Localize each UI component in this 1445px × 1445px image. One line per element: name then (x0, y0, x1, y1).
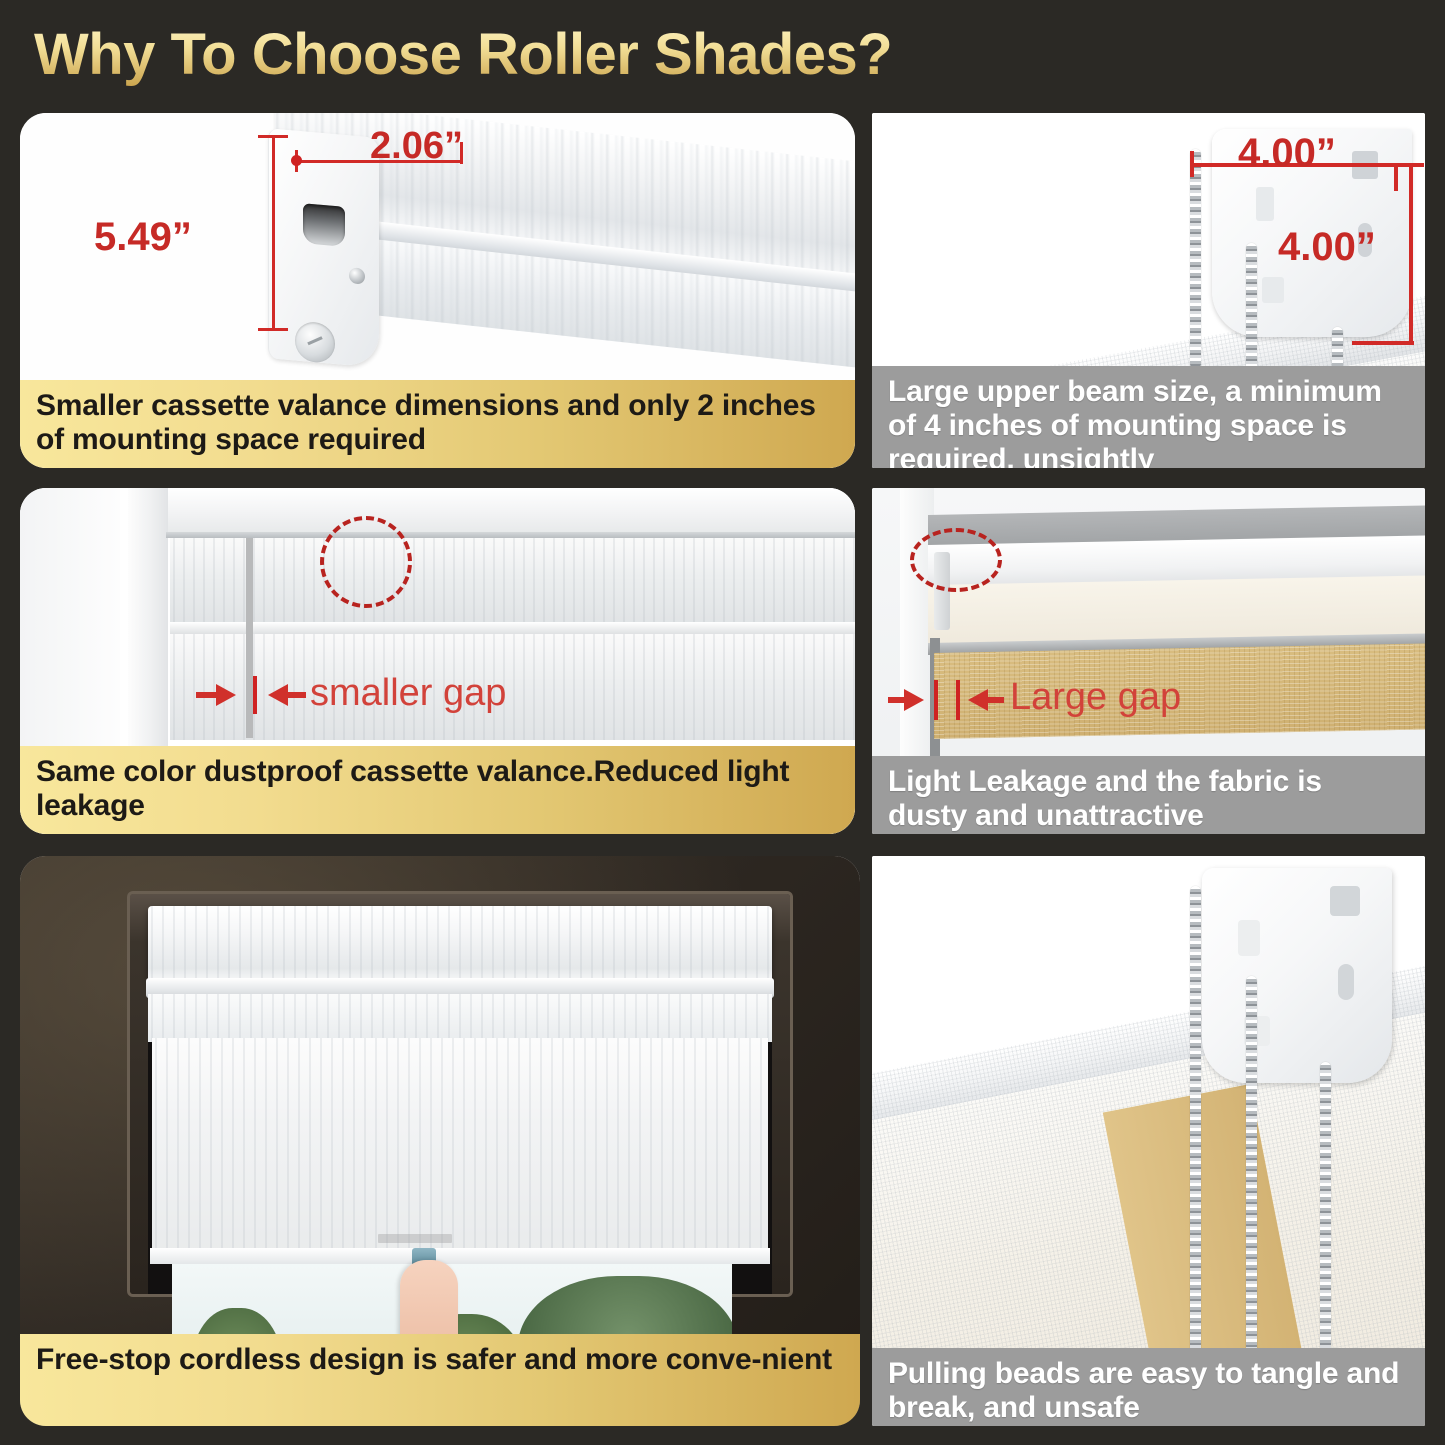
beam-width-tick-right (1394, 165, 1398, 191)
large-gap-label: Large gap (1010, 676, 1181, 719)
panel-4-caption: Light Leakage and the fabric is dusty an… (872, 756, 1425, 834)
beam-height-dim-line (1409, 165, 1413, 343)
beam-width-tick-left (1190, 151, 1194, 177)
panel-6-caption: Pulling beads are easy to tangle and bre… (872, 1348, 1425, 1426)
gap-edge-stripe (246, 538, 253, 738)
beam-width-label: 4.00” (1238, 131, 1336, 176)
gap-measure-line-2 (956, 680, 960, 720)
bead-chain-left (1190, 149, 1201, 369)
panel-1: 5.49” 2.06” Smaller cassette valance dim… (20, 113, 855, 468)
height-dim-tick-top (258, 135, 288, 138)
gap-arrow-left-tail (888, 697, 906, 703)
height-dim-tick-bottom (258, 328, 288, 331)
bead-chain-middle (1246, 976, 1257, 1364)
infographic-page: Why To Choose Roller Shades? 5.49” (0, 0, 1445, 1445)
bead-chain-middle (1246, 243, 1257, 373)
bead-chain-right (1320, 1062, 1331, 1364)
shade-fabric (152, 1038, 768, 1254)
gap-arrow-right-tail (986, 697, 1004, 703)
gap-arrow-right (268, 684, 288, 706)
height-dim-label: 5.49” (94, 215, 192, 260)
panel-5-caption: Free-stop cordless design is safer and m… (20, 1334, 860, 1426)
panel-2: 4.00” 4.00” Large upper beam size, a min… (872, 113, 1425, 468)
beam-height-tick-bottom (1352, 341, 1414, 345)
panel-6-photo (872, 856, 1425, 1426)
panel-3: smaller gap Same color dustproof cassett… (20, 488, 855, 834)
gap-arrow-left-tail (196, 692, 218, 698)
bead-chain-left (1190, 886, 1201, 1364)
highlight-ellipse (910, 528, 1002, 592)
panel-6: Pulling beads are easy to tangle and bre… (872, 856, 1425, 1426)
width-dim-origin-dot (291, 155, 302, 166)
valance-end-cap (268, 128, 379, 368)
panel-2-caption: Large upper beam size, a minimum of 4 in… (872, 366, 1425, 468)
panel-5: Free-stop cordless design is safer and m… (20, 856, 860, 1426)
gap-arrow-right-tail (286, 692, 306, 698)
beam-height-label: 4.00” (1278, 225, 1376, 270)
gap-arrow-right (968, 689, 988, 711)
width-dim-label: 2.06” (370, 125, 463, 168)
height-dim-line (272, 135, 275, 331)
smaller-gap-label: smaller gap (310, 672, 506, 715)
bottom-rail (150, 1248, 770, 1264)
cassette-headrail (148, 906, 772, 984)
gap-measure-line (253, 676, 257, 714)
beam-height-tick-top (1388, 163, 1424, 167)
panel-4: Large gap Light Leakage and the fabric i… (872, 488, 1425, 834)
mounting-bracket (1202, 868, 1392, 1083)
panel-1-caption: Smaller cassette valance dimensions and … (20, 380, 855, 468)
brand-tag (378, 1234, 452, 1243)
gap-arrow-left (904, 689, 924, 711)
gap-arrow-left (216, 684, 236, 706)
highlight-ellipse (320, 516, 412, 608)
cassette-valance-band (170, 538, 855, 624)
panel-3-caption: Same color dustproof cassette valance.Re… (20, 746, 855, 834)
gap-measure-line (934, 680, 938, 720)
page-title: Why To Choose Roller Shades? (34, 21, 892, 88)
header-bar: Why To Choose Roller Shades? (0, 0, 1445, 108)
cassette-lower (148, 994, 772, 1042)
